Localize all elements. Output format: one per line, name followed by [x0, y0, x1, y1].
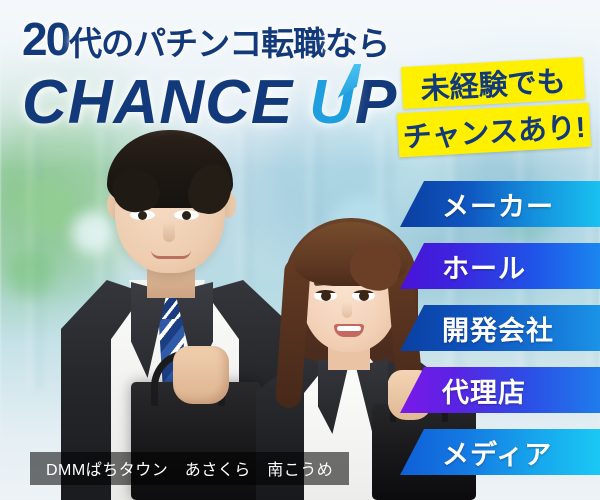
- category-label-maker: メーカー: [442, 185, 554, 224]
- category-button-maker[interactable]: メーカー: [400, 181, 600, 227]
- man-mouth: [151, 250, 191, 259]
- man-eye-right: [174, 210, 199, 220]
- man-hand: [173, 346, 229, 404]
- category-label-agency: 代理店: [442, 371, 526, 410]
- category-button-development-company[interactable]: 開発会社: [400, 305, 600, 351]
- category-label-media: メディア: [442, 433, 552, 472]
- logo-word-chance: CHANCE: [22, 68, 293, 137]
- woman-mouth: [334, 324, 364, 337]
- badge-no-experience-label: 未経験でも: [419, 58, 566, 108]
- woman-eye-right: [352, 290, 375, 301]
- category-button-media[interactable]: メディア: [400, 429, 600, 475]
- category-label-development-company: 開発会社: [442, 309, 554, 348]
- badge-chance-available-label: チャンスあり!: [402, 104, 587, 156]
- recruitment-banner: 20代のパチンコ転職なら CHANCEUP 未経験でも チャンスあり! メーカー…: [0, 0, 600, 500]
- category-button-list: メーカー ホール 開発会社 代理店 メディア: [400, 181, 600, 475]
- logo-letter-u: U: [309, 72, 355, 134]
- category-button-agency[interactable]: 代理店: [400, 367, 600, 413]
- chance-up-logo: CHANCEUP: [22, 72, 397, 134]
- headline-middle: 代のパチンコ転職: [69, 25, 325, 62]
- category-button-hall[interactable]: ホール: [400, 243, 600, 289]
- woman-eye-left: [314, 290, 337, 301]
- man-hair: [107, 130, 233, 208]
- credit-bar: DMMぱちタウン あさくら 南こうめ: [30, 452, 349, 485]
- man-nose: [163, 222, 175, 242]
- headline-number: 20: [22, 13, 69, 65]
- headline-text: 20代のパチンコ転職なら: [22, 16, 389, 62]
- woman-nose: [342, 302, 352, 318]
- category-label-hall: ホール: [442, 247, 526, 286]
- headline-tail: なら: [325, 25, 389, 62]
- logo-letter-p: P: [355, 68, 397, 137]
